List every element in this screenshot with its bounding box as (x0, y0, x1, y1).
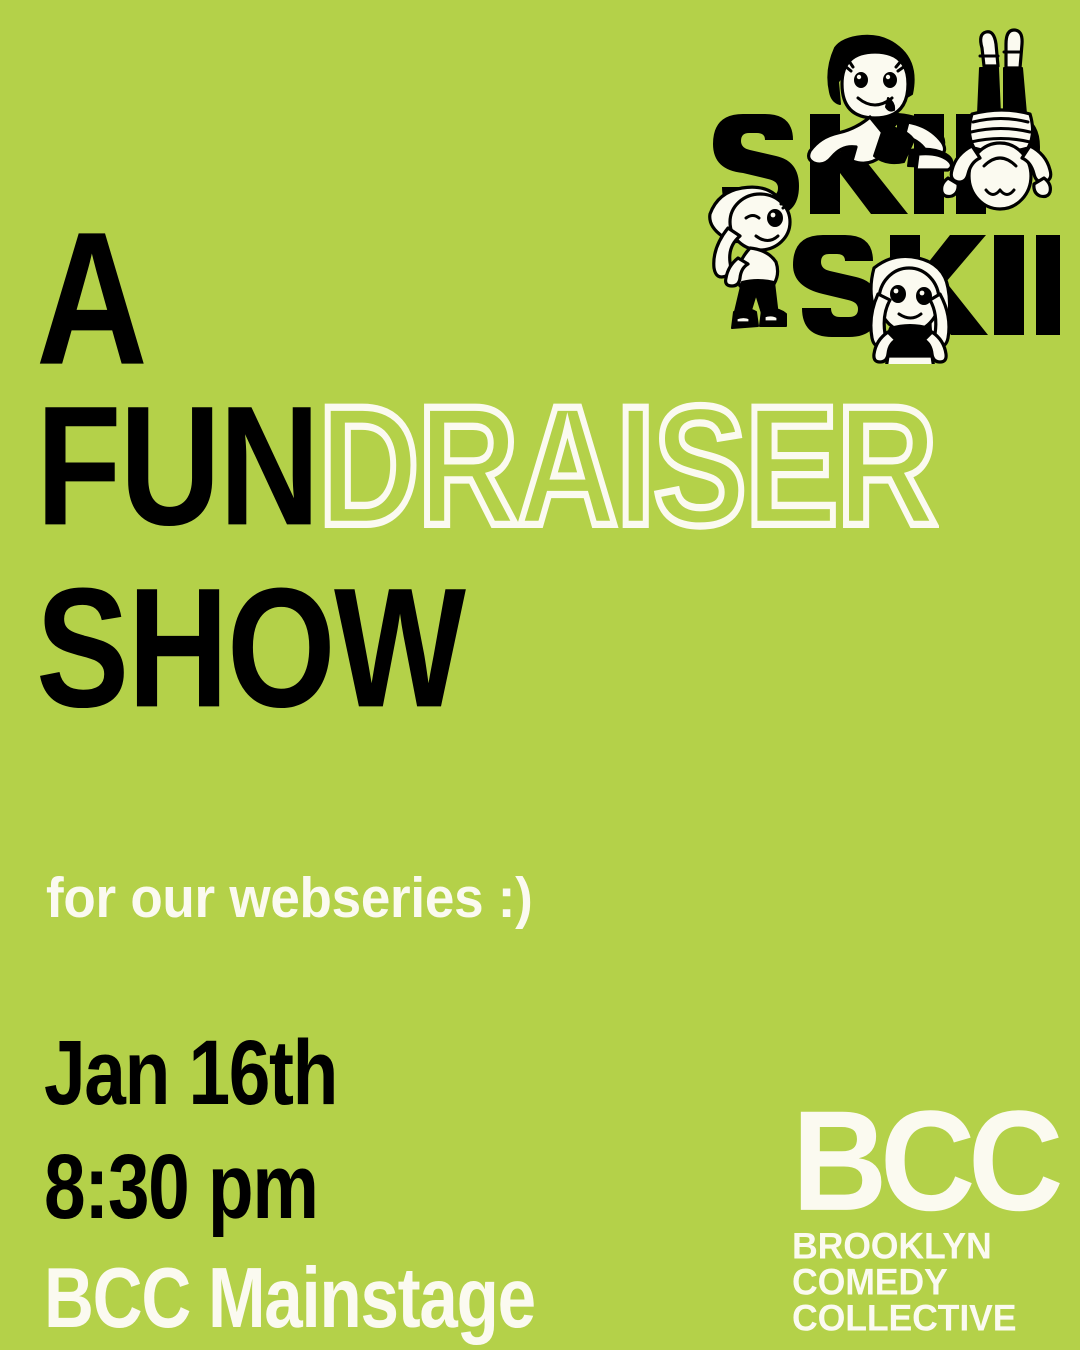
event-poster: .wf { fill:#fbfaf0; stroke:#000; stroke-… (0, 0, 1080, 1350)
character-reclining-girl-icon (809, 36, 953, 170)
event-venue: BCC Mainstage (44, 1256, 678, 1341)
bcc-word-comedy: COMEDY (792, 1264, 1063, 1302)
bcc-logo-words: BROOKLYN COMEDY COLLECTIVE (792, 1228, 1058, 1336)
bcc-logo: BCC BROOKLYN COMEDY COLLECTIVE (792, 1104, 1058, 1332)
event-time: 8:30 pm (44, 1140, 678, 1249)
bcc-wordmark: BCC (792, 1104, 1058, 1218)
event-date: Jan 16th (44, 1026, 678, 1135)
headline-line-a: A (36, 214, 954, 388)
bcc-word-collective: COLLECTIVE (792, 1300, 1063, 1338)
headline-draiser-outline: DRAISER (318, 371, 936, 561)
headline-block: A FUNDRAISER SHOW (36, 214, 1056, 372)
event-details-block: Jan 16th 8:30 pm BCC Mainstage (44, 1026, 704, 1328)
subtitle-text: for our webseries :) (46, 866, 533, 931)
bcc-word-brooklyn: BROOKLYN (792, 1228, 1063, 1266)
headline-line-show: SHOW (36, 572, 464, 725)
headline-line-fundraiser: FUNDRAISER (36, 390, 936, 558)
headline-fun-solid: FUN (36, 371, 318, 561)
